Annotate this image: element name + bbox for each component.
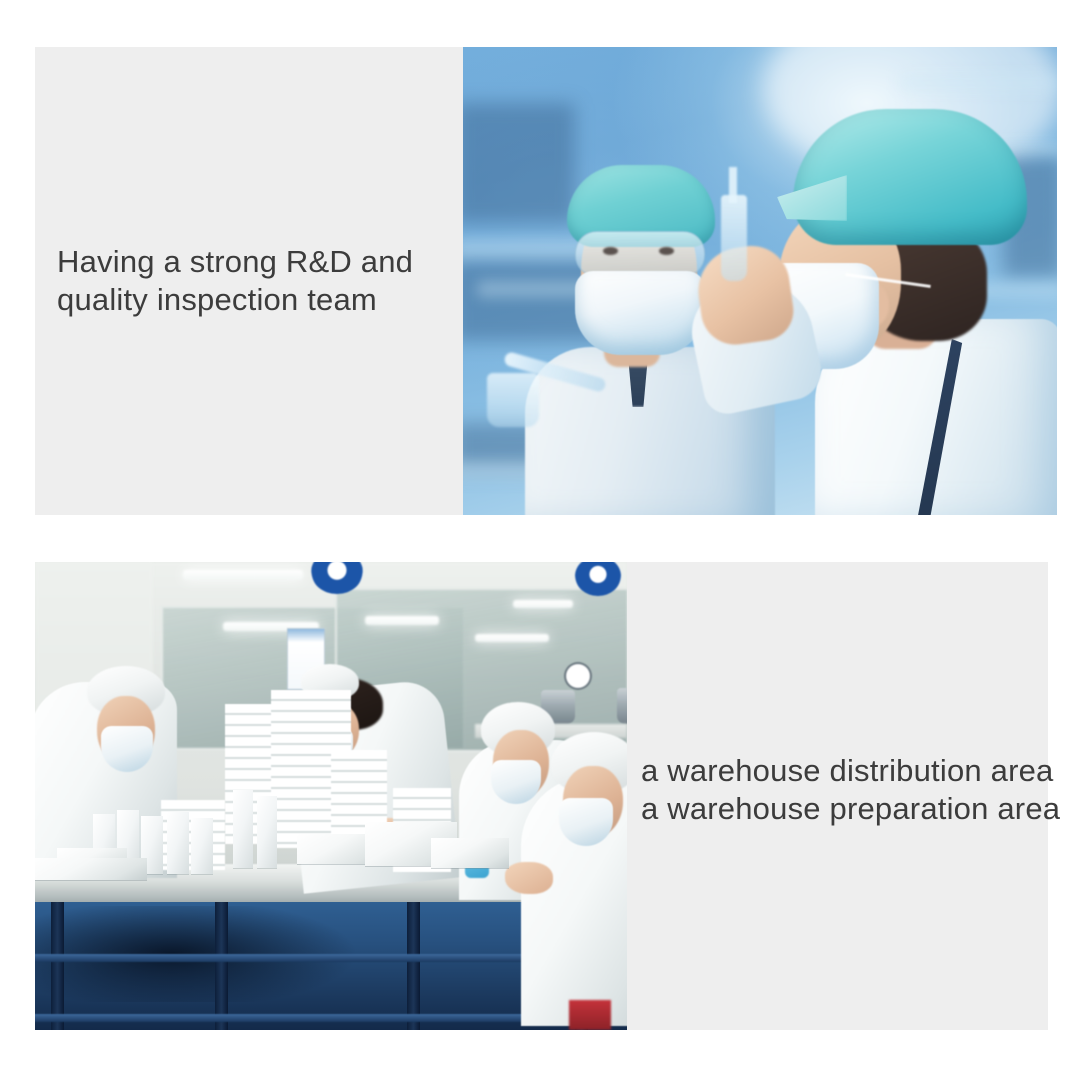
warehouse-packing-photo — [35, 562, 627, 1030]
ceiling-light-4 — [475, 634, 549, 642]
bottom-caption-line-2: a warehouse preparation area — [641, 790, 1060, 828]
technician-a-eye-left — [603, 247, 618, 255]
ceiling-light-5 — [513, 600, 573, 608]
lab-flask-neck — [729, 167, 737, 203]
top-caption: Having a strong R&D and quality inspecti… — [57, 243, 413, 319]
technician-a-mask — [575, 271, 705, 355]
bottom-caption-line-1: a warehouse distribution area — [641, 752, 1060, 790]
lab-inspection-photo — [463, 47, 1057, 515]
lab-cabinet-left — [463, 103, 575, 223]
lab-flask — [721, 195, 747, 281]
worker-4-hand — [505, 862, 553, 894]
lab-beaker — [487, 373, 539, 427]
table-leg-1 — [51, 902, 64, 1030]
ceiling-light-1 — [183, 570, 303, 580]
lab-shelf-right-top — [899, 75, 1057, 91]
wall-clock — [564, 662, 592, 690]
bottom-caption: a warehouse distribution area a warehous… — [641, 752, 1060, 828]
table-leg-3 — [407, 902, 420, 1030]
technician-b-hairnet — [793, 109, 1027, 245]
top-caption-line-1: Having a strong R&D and — [57, 243, 413, 281]
box-bottle-1 — [233, 790, 253, 868]
steel-pot-2 — [617, 688, 627, 724]
ceiling-light-3 — [365, 616, 439, 625]
worker-4-red-item — [569, 1000, 611, 1030]
box-upright-5 — [191, 818, 213, 874]
table-leg-2 — [215, 902, 228, 1030]
top-caption-line-2: quality inspection team — [57, 281, 413, 319]
page-canvas: Having a strong R&D and quality inspecti… — [0, 0, 1080, 1080]
box-flat-5 — [35, 858, 147, 880]
box-bottle-2 — [257, 796, 277, 868]
box-upright-4 — [167, 812, 189, 874]
box-flat-4 — [431, 838, 509, 868]
technician-a-eye-right — [659, 247, 674, 255]
